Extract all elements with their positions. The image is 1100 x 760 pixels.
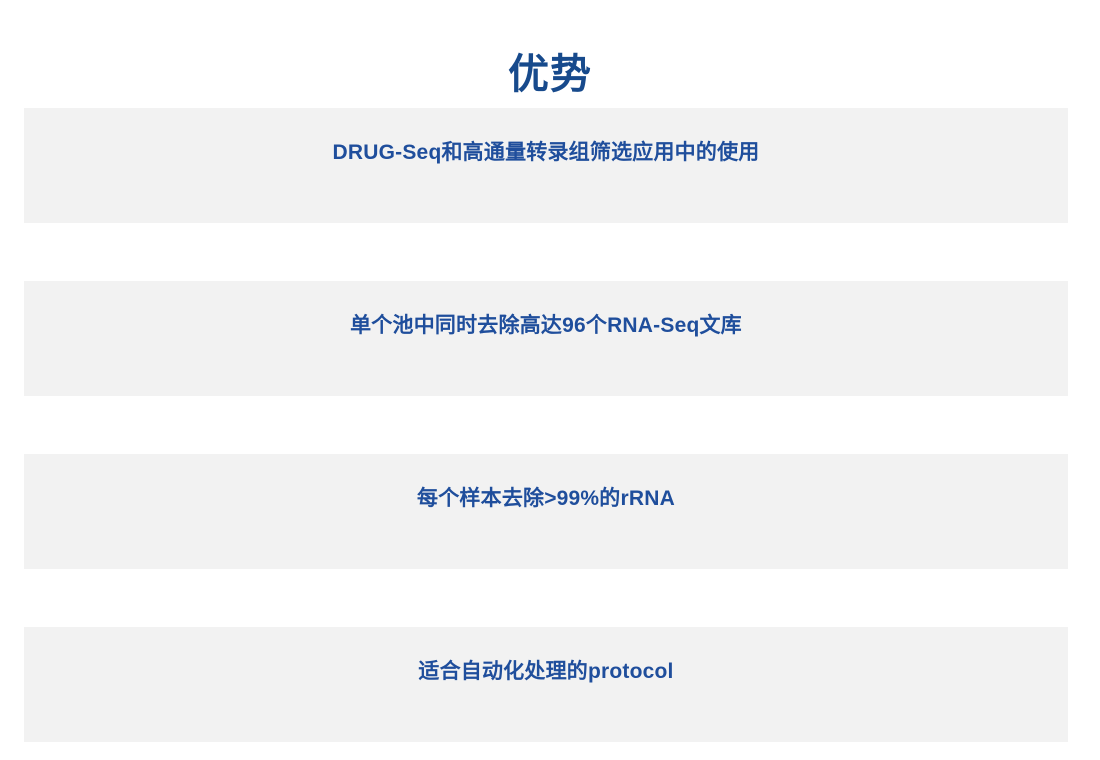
benefits-page: 优势 DRUG-Seq和高通量转录组筛选应用中的使用 单个池中同时去除高达96个… <box>0 0 1100 760</box>
benefit-card-label: 每个样本去除>99%的rRNA <box>24 484 1068 514</box>
benefit-card-label: 单个池中同时去除高达96个RNA-Seq文库 <box>24 311 1068 341</box>
benefit-card-4: 适合自动化处理的protocol <box>24 627 1068 742</box>
benefit-card-label: 适合自动化处理的protocol <box>24 657 1068 687</box>
benefit-card-label: DRUG-Seq和高通量转录组筛选应用中的使用 <box>24 138 1068 168</box>
benefit-card-1: DRUG-Seq和高通量转录组筛选应用中的使用 <box>24 108 1068 223</box>
benefits-card-list: DRUG-Seq和高通量转录组筛选应用中的使用 单个池中同时去除高达96个RNA… <box>24 108 1068 742</box>
benefit-card-3: 每个样本去除>99%的rRNA <box>24 454 1068 569</box>
page-title: 优势 <box>0 45 1100 103</box>
benefit-card-2: 单个池中同时去除高达96个RNA-Seq文库 <box>24 281 1068 396</box>
